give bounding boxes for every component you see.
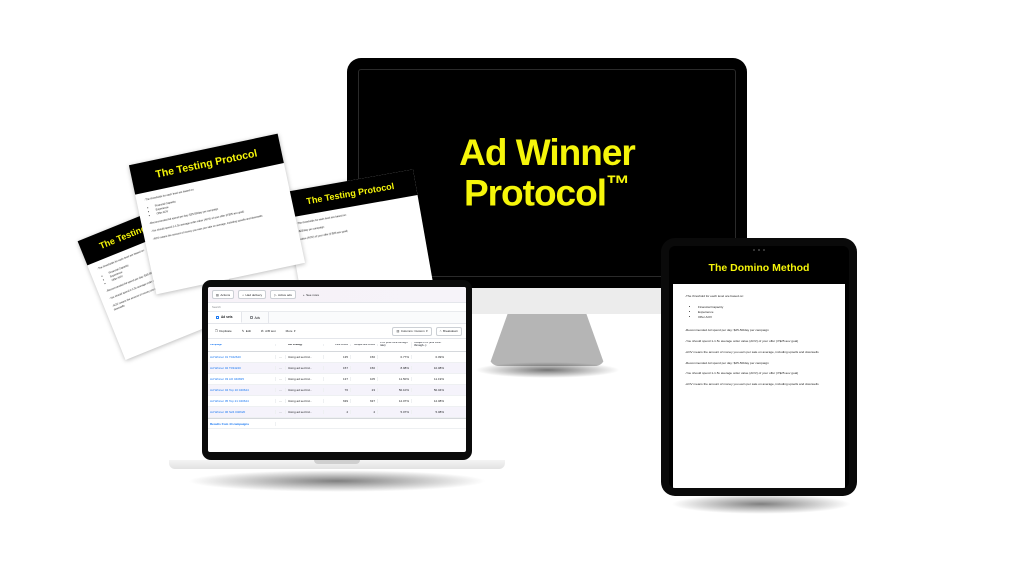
table-row[interactable]: Ad Winner 03 AO 040825 ⋯ Using ad set bi… [208, 374, 466, 385]
cell-bid-strategy: Using ad set bid... [286, 399, 324, 403]
cell-bid-strategy: Using ad set bid... [286, 388, 324, 392]
laptop-device: ▧ Actions ⌂ Had delivery ▷ Active ads [202, 280, 472, 460]
see-more-button[interactable]: + See more [300, 291, 322, 298]
ads-manager-topbar: ▧ Actions ⌂ Had delivery ▷ Active ads [208, 287, 466, 303]
column-header-ctr[interactable]: CTR (link click-through rate) [378, 342, 412, 347]
actions-button[interactable]: ▧ Actions [212, 290, 234, 299]
cell-menu-dots[interactable]: ⋯ [276, 366, 286, 370]
cell-link-clicks: 4 [324, 410, 351, 414]
tablet-bullets: Financial Capacity Experience Offer AOV [698, 305, 833, 321]
cell-menu-dots[interactable]: ⋯ [276, 377, 286, 381]
active-ads-filter[interactable]: ▷ Active ads [270, 290, 296, 299]
tablet-paragraph: -Recommended Ad spend per day: $25-50/da… [685, 361, 833, 366]
column-header-campaign[interactable]: Campaign [208, 344, 276, 347]
cell-ctr: 8.98% [378, 366, 412, 370]
cell-ctr: 12.07% [378, 399, 412, 403]
cell-menu-dots[interactable]: ⋯ [276, 399, 286, 403]
trademark-symbol: ™ [606, 171, 630, 198]
cell-bid-strategy: Using ad set bid... [286, 410, 324, 414]
monitor-title: Ad Winner Protocol™ [459, 133, 635, 213]
cell-menu-dots[interactable]: ⋯ [276, 388, 286, 392]
cell-link-clicks: 157 [324, 366, 351, 370]
cell-campaign[interactable]: Ad Winner 05 Top 21 040624 [208, 399, 276, 403]
ads-manager-toolbar: ❐ Duplicate ✎ Edit ⚖ A/B test More [208, 324, 466, 339]
cell-link-clicks: 639 [324, 399, 351, 403]
tablet-paragraph: -AOV means the amount of money you earn … [685, 350, 833, 355]
cell-bid-strategy: Using ad set bid... [286, 377, 324, 381]
table-row[interactable]: Ad Winner 04 Top 10 040624 ⋯ Using ad se… [208, 385, 466, 396]
laptop-lid: ▧ Actions ⌂ Had delivery ▷ Active ads [202, 280, 472, 460]
tablet-device: The Domino Method -The threshold for eac… [661, 238, 857, 496]
pencil-icon: ✎ [242, 329, 245, 333]
cursor-icon: ▧ [216, 293, 219, 297]
adsets-icon [216, 316, 219, 319]
tablet-paragraph: -You should spend 1-1.5x average order v… [685, 339, 833, 344]
columns-button[interactable]: ▥ Columns: Custom ▾ [392, 327, 431, 336]
cell-menu-dots[interactable]: ⋯ [276, 410, 286, 414]
tab-ad-sets[interactable]: Ad sets [208, 312, 242, 323]
tablet-camera-row [669, 246, 849, 254]
monitor-title-line2: Protocol™ [459, 172, 635, 213]
sensor-icon [763, 249, 765, 251]
tablet-document-page: -The threshold for each level are based … [673, 284, 845, 488]
cell-campaign[interactable]: Ad Winner 04 Top 10 040624 [208, 388, 276, 392]
breakdown-icon: ⑃ [440, 329, 442, 333]
cell-unique-link-clicks: 4 [351, 410, 378, 414]
promo-mockup-scene: Ad Winner Protocol™ The Testing Protocol… [0, 0, 1024, 576]
table-row[interactable]: Ad Winner 05 Top 21 040624 ⋯ Using ad se… [208, 396, 466, 407]
column-header-link-clicks[interactable]: Link clicks [324, 344, 351, 347]
cell-unique-ctr: 5.08% [412, 410, 446, 414]
camera-icon [758, 249, 761, 252]
tablet-body: The Domino Method -The threshold for eac… [661, 238, 857, 496]
table-footer-row: Results from 44 campaigns [208, 418, 466, 429]
tablet-paragraph: -AOV means the amount of money you earn … [685, 382, 833, 387]
cell-link-clicks: 137 [324, 377, 351, 381]
laptop-shadow [187, 470, 487, 492]
table-header-row: Campaign Bid strategy Link clicks Unique… [208, 339, 466, 352]
duplicate-icon: ❐ [215, 329, 218, 333]
column-header-unique-link-clicks[interactable]: Unique link clicks [351, 344, 378, 347]
cell-campaign[interactable]: Ad Winner 02 T034220 [208, 366, 276, 370]
tablet-header-title: The Domino Method [669, 254, 849, 284]
search-input[interactable]: Search [208, 303, 466, 312]
results-summary: Results from 44 campaigns [208, 422, 276, 426]
monitor-title-line1: Ad Winner [459, 133, 635, 173]
ads-manager-app: ▧ Actions ⌂ Had delivery ▷ Active ads [208, 287, 466, 452]
cell-unique-link-clicks: 637 [351, 399, 378, 403]
ads-icon [250, 316, 253, 319]
laptop-trackpad-notch [314, 460, 360, 464]
ads-manager-tabs: Ad sets Ads [208, 312, 466, 324]
chevron-down-icon: ▾ [294, 329, 296, 333]
cell-campaign[interactable]: Ad Winner 01 T042620 [208, 355, 276, 359]
document-sheet-1: The Testing Protocol -The thresholds for… [129, 134, 305, 295]
column-header-bid-strategy[interactable]: Bid strategy [286, 344, 324, 347]
cell-unique-ctr: 11.19% [412, 377, 446, 381]
edit-button[interactable]: ✎ Edit [239, 328, 254, 335]
tablet-paragraph: -Recommended Ad spend per day: $25-50/da… [685, 328, 833, 333]
had-delivery-filter[interactable]: ⌂ Had delivery [238, 290, 266, 299]
columns-icon: ▥ [396, 329, 399, 333]
home-icon: ⌂ [242, 293, 244, 297]
cell-ctr: 0.77% [378, 355, 412, 359]
column-header-unique-ctr[interactable]: Unique CTR (link click-through...) [412, 342, 446, 347]
cell-campaign[interactable]: Ad Winner 03 AO 040825 [208, 377, 276, 381]
tab-ads[interactable]: Ads [242, 312, 270, 323]
list-item: Offer AOV [698, 315, 833, 320]
tablet-screen: The Domino Method -The threshold for eac… [669, 246, 849, 488]
table-row[interactable]: Ad Winner 01 T042620 ⋯ Using ad set bid.… [208, 352, 466, 363]
tablet-shadow [671, 494, 851, 514]
ads-table: Campaign Bid strategy Link clicks Unique… [208, 339, 466, 452]
cell-bid-strategy: Using ad set bid... [286, 366, 324, 370]
play-icon: ▷ [274, 293, 276, 297]
cell-unique-link-clicks: 150 [351, 355, 378, 359]
sensor-icon [753, 249, 755, 251]
ab-test-button[interactable]: ⚖ A/B test [258, 328, 279, 335]
chevron-down-icon: ▾ [426, 329, 428, 333]
cell-unique-link-clicks: 23 [351, 388, 378, 392]
tablet-paragraph: -You should spend 1-1.5x average order v… [685, 371, 833, 376]
cell-bid-strategy: Using ad set bid... [286, 355, 324, 359]
ab-icon: ⚖ [261, 329, 264, 333]
table-row[interactable]: Ad Winner 06 S24 040620 ⋯ Using ad set b… [208, 407, 466, 418]
duplicate-button[interactable]: ❐ Duplicate [212, 328, 235, 335]
cell-ctr: 5.07% [378, 410, 412, 414]
more-button[interactable]: More ▾ [283, 328, 299, 335]
cell-ctr: 50.10% [378, 388, 412, 392]
cell-unique-ctr: 0.09% [412, 355, 446, 359]
cell-unique-ctr: 10.08% [412, 366, 446, 370]
breakdown-button[interactable]: ⑃ Breakdown [436, 327, 462, 336]
table-row[interactable]: Ad Winner 02 T034220 ⋯ Using ad set bid.… [208, 363, 466, 374]
cell-campaign[interactable]: Ad Winner 06 S24 040620 [208, 410, 276, 414]
monitor-stand [489, 314, 605, 366]
cell-unique-ctr: 12.08% [412, 399, 446, 403]
cell-menu-dots[interactable]: ⋯ [276, 355, 286, 359]
tablet-intro: -The threshold for each level are based … [685, 294, 833, 299]
plus-icon: + [303, 293, 305, 297]
cell-unique-ctr: 50.04% [412, 388, 446, 392]
cell-unique-link-clicks: 150 [351, 366, 378, 370]
cell-ctr: 11.50% [378, 377, 412, 381]
cell-link-clicks: 76 [324, 388, 351, 392]
cell-link-clicks: 135 [324, 355, 351, 359]
cell-unique-link-clicks: 105 [351, 377, 378, 381]
laptop-screen: ▧ Actions ⌂ Had delivery ▷ Active ads [208, 287, 466, 452]
monitor-shadow [475, 362, 620, 378]
